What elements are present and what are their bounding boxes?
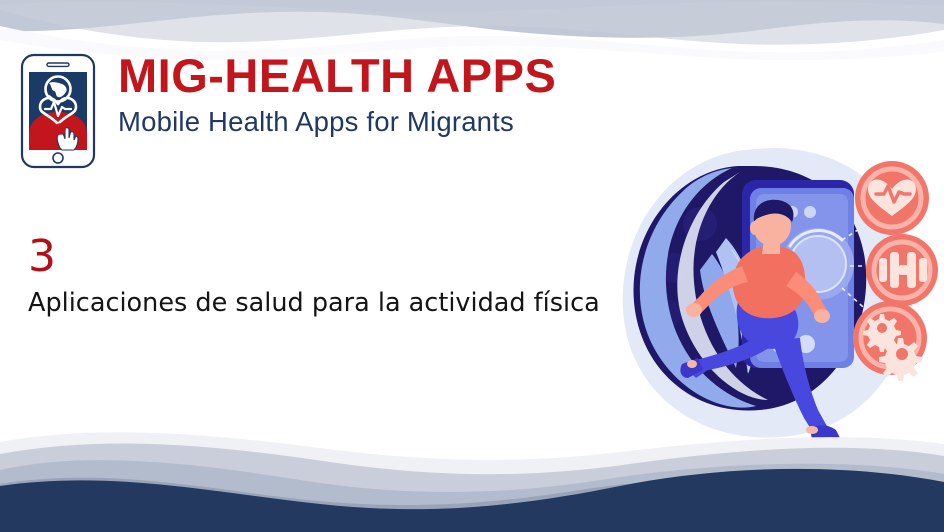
running-man-fitness-app-illustration [604, 142, 940, 452]
brand-logo-block: MIG-HEALTH APPS Mobile Health Apps for M… [18, 52, 638, 164]
brand-text-group: MIG-HEALTH APPS Mobile Health Apps for M… [118, 50, 658, 139]
smartphone-globe-heart-touch-logo-icon [18, 52, 98, 170]
slide-canvas: MIG-HEALTH APPS Mobile Health Apps for M… [0, 0, 944, 532]
brand-subtitle: Mobile Health Apps for Migrants [118, 105, 658, 139]
section-number: 3 [28, 232, 618, 282]
section-title: Aplicaciones de salud para la actividad … [28, 288, 618, 319]
badge-heart-pulse [855, 161, 929, 235]
brand-title: MIG-HEALTH APPS [118, 50, 658, 102]
section-heading-block: 3 Aplicaciones de salud para la activida… [28, 232, 618, 319]
badge-dumbbell [866, 234, 938, 306]
